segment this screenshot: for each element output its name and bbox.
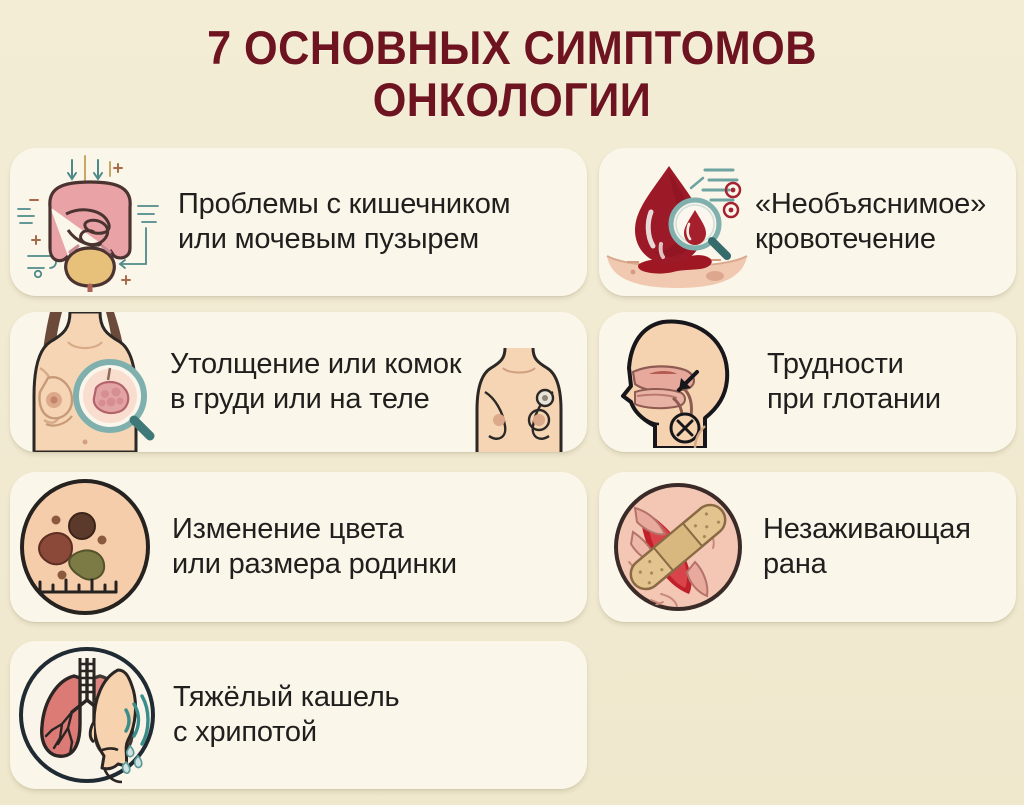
- symptom-label-3: Утолщение или комок в груди или на теле: [170, 347, 461, 417]
- throat-swallowing-icon: [609, 316, 749, 448]
- symptom-label-6: Незаживающая рана: [763, 512, 971, 582]
- symptom-card-4: Трудности при глотании: [599, 312, 1016, 452]
- symptom-label-5: Изменение цвета или размера родинки: [172, 512, 457, 582]
- symptom-label-4: Трудности при глотании: [767, 347, 941, 417]
- title-line-2: ОНКОЛОГИИ: [41, 74, 983, 126]
- symptom-card-6: Незаживающая рана: [599, 472, 1016, 622]
- symptom-card-1: Проблемы с кишечником или мочевым пузыре…: [10, 148, 587, 296]
- infographic-page: 7 ОСНОВНЫХ СИМПТОМОВ ОНКОЛОГИИ: [0, 0, 1024, 805]
- symptom-label-7: Тяжёлый кашель с хрипотой: [173, 680, 399, 750]
- symptom-card-3: Утолщение или комок в груди или на теле: [10, 312, 587, 452]
- wound-bandage-icon: [603, 476, 753, 618]
- breast-lump-magnifier-icon: [10, 312, 160, 452]
- page-title: 7 ОСНОВНЫХ СИМПТОМОВ ОНКОЛОГИИ: [0, 22, 1024, 126]
- symptom-label-2: «Необъяснимое» кровотечение: [755, 187, 986, 257]
- symptom-card-7: Тяжёлый кашель с хрипотой: [10, 641, 587, 789]
- secondary-torso-icon: [459, 346, 579, 452]
- blood-drop-magnifier-icon: [603, 152, 751, 292]
- mole-ruler-icon: [10, 476, 160, 618]
- symptom-card-2: «Необъяснимое» кровотечение: [599, 148, 1016, 296]
- lungs-cough-icon: [10, 644, 165, 786]
- symptom-label-1: Проблемы с кишечником или мочевым пузыре…: [178, 187, 510, 257]
- title-line-1: 7 ОСНОВНЫХ СИМПТОМОВ: [41, 22, 983, 74]
- intestines-bladder-icon: [10, 152, 170, 292]
- symptom-card-5: Изменение цвета или размера родинки: [10, 472, 587, 622]
